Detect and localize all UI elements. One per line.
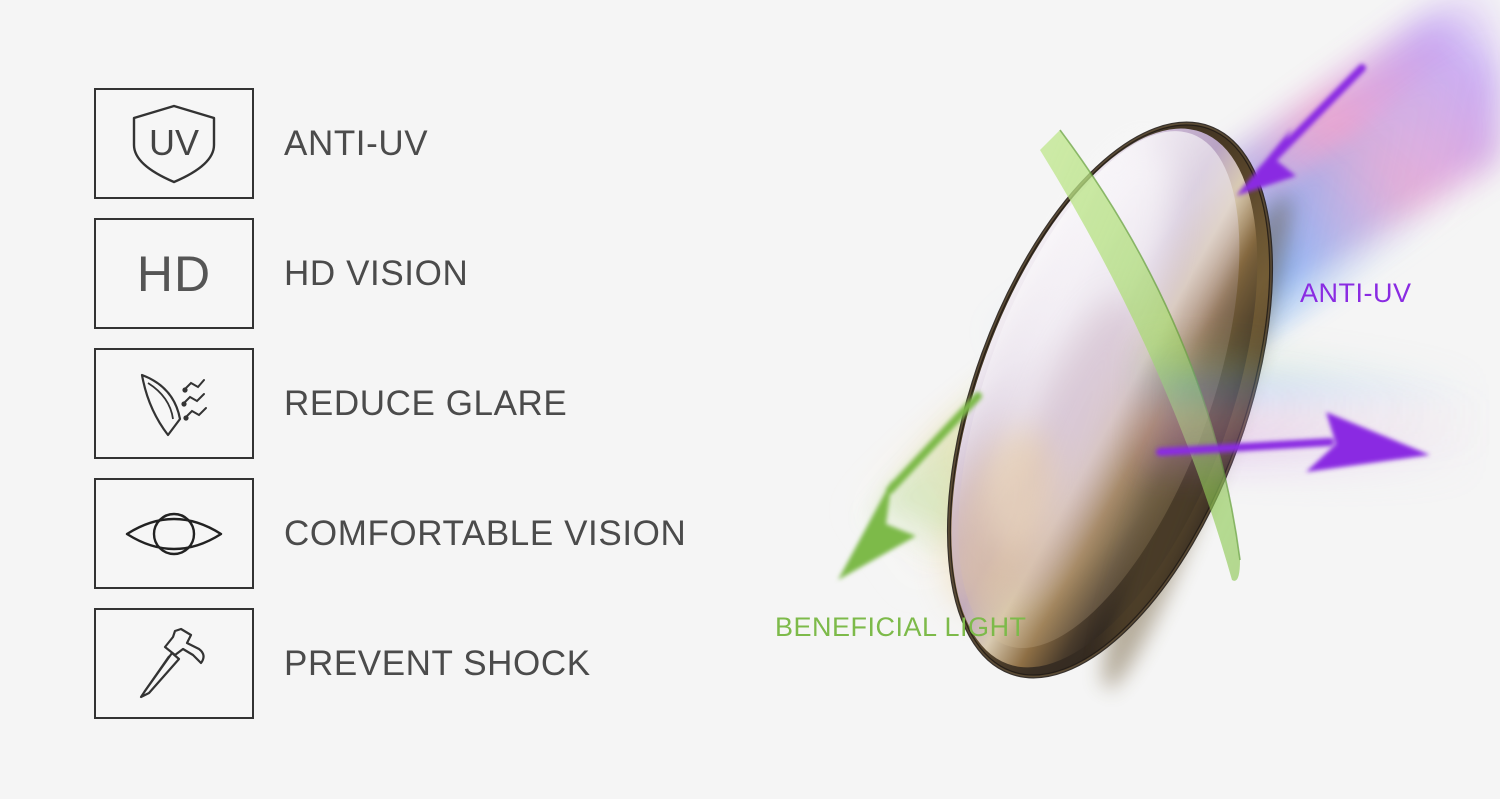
beneficial-light-label: BENEFICIAL LIGHT — [775, 612, 1027, 643]
uv-shield-text: UV — [149, 122, 199, 163]
feature-row-prevent-shock: PREVENT SHOCK — [94, 608, 754, 719]
feature-list: UV ANTI-UV HD HD VISION — [94, 88, 754, 719]
glare-rays-icon — [128, 365, 220, 443]
anti-uv-label: ANTI-UV — [1300, 278, 1412, 309]
uv-shield-icon: UV — [126, 101, 222, 187]
feature-label-anti-uv: ANTI-UV — [284, 124, 428, 164]
feature-row-comfortable-vision: COMFORTABLE VISION — [94, 478, 754, 589]
icon-box-anti-uv: UV — [94, 88, 254, 199]
feature-row-hd-vision: HD HD VISION — [94, 218, 754, 329]
eye-icon — [121, 504, 227, 564]
lens-diagram-svg — [740, 0, 1500, 799]
icon-box-comfortable-vision — [94, 478, 254, 589]
icon-box-prevent-shock — [94, 608, 254, 719]
feature-label-comfortable-vision: COMFORTABLE VISION — [284, 514, 686, 554]
icon-box-hd-vision: HD — [94, 218, 254, 329]
infographic-canvas: UV ANTI-UV HD HD VISION — [0, 0, 1500, 799]
feature-label-prevent-shock: PREVENT SHOCK — [284, 644, 591, 684]
feature-row-reduce-glare: REDUCE GLARE — [94, 348, 754, 459]
hd-text-icon: HD — [137, 249, 211, 299]
hammer-icon — [131, 623, 217, 705]
feature-row-anti-uv: UV ANTI-UV — [94, 88, 754, 199]
feature-label-hd-vision: HD VISION — [284, 254, 468, 294]
lens-light-diagram — [740, 0, 1500, 799]
icon-box-reduce-glare — [94, 348, 254, 459]
feature-label-reduce-glare: REDUCE GLARE — [284, 384, 567, 424]
